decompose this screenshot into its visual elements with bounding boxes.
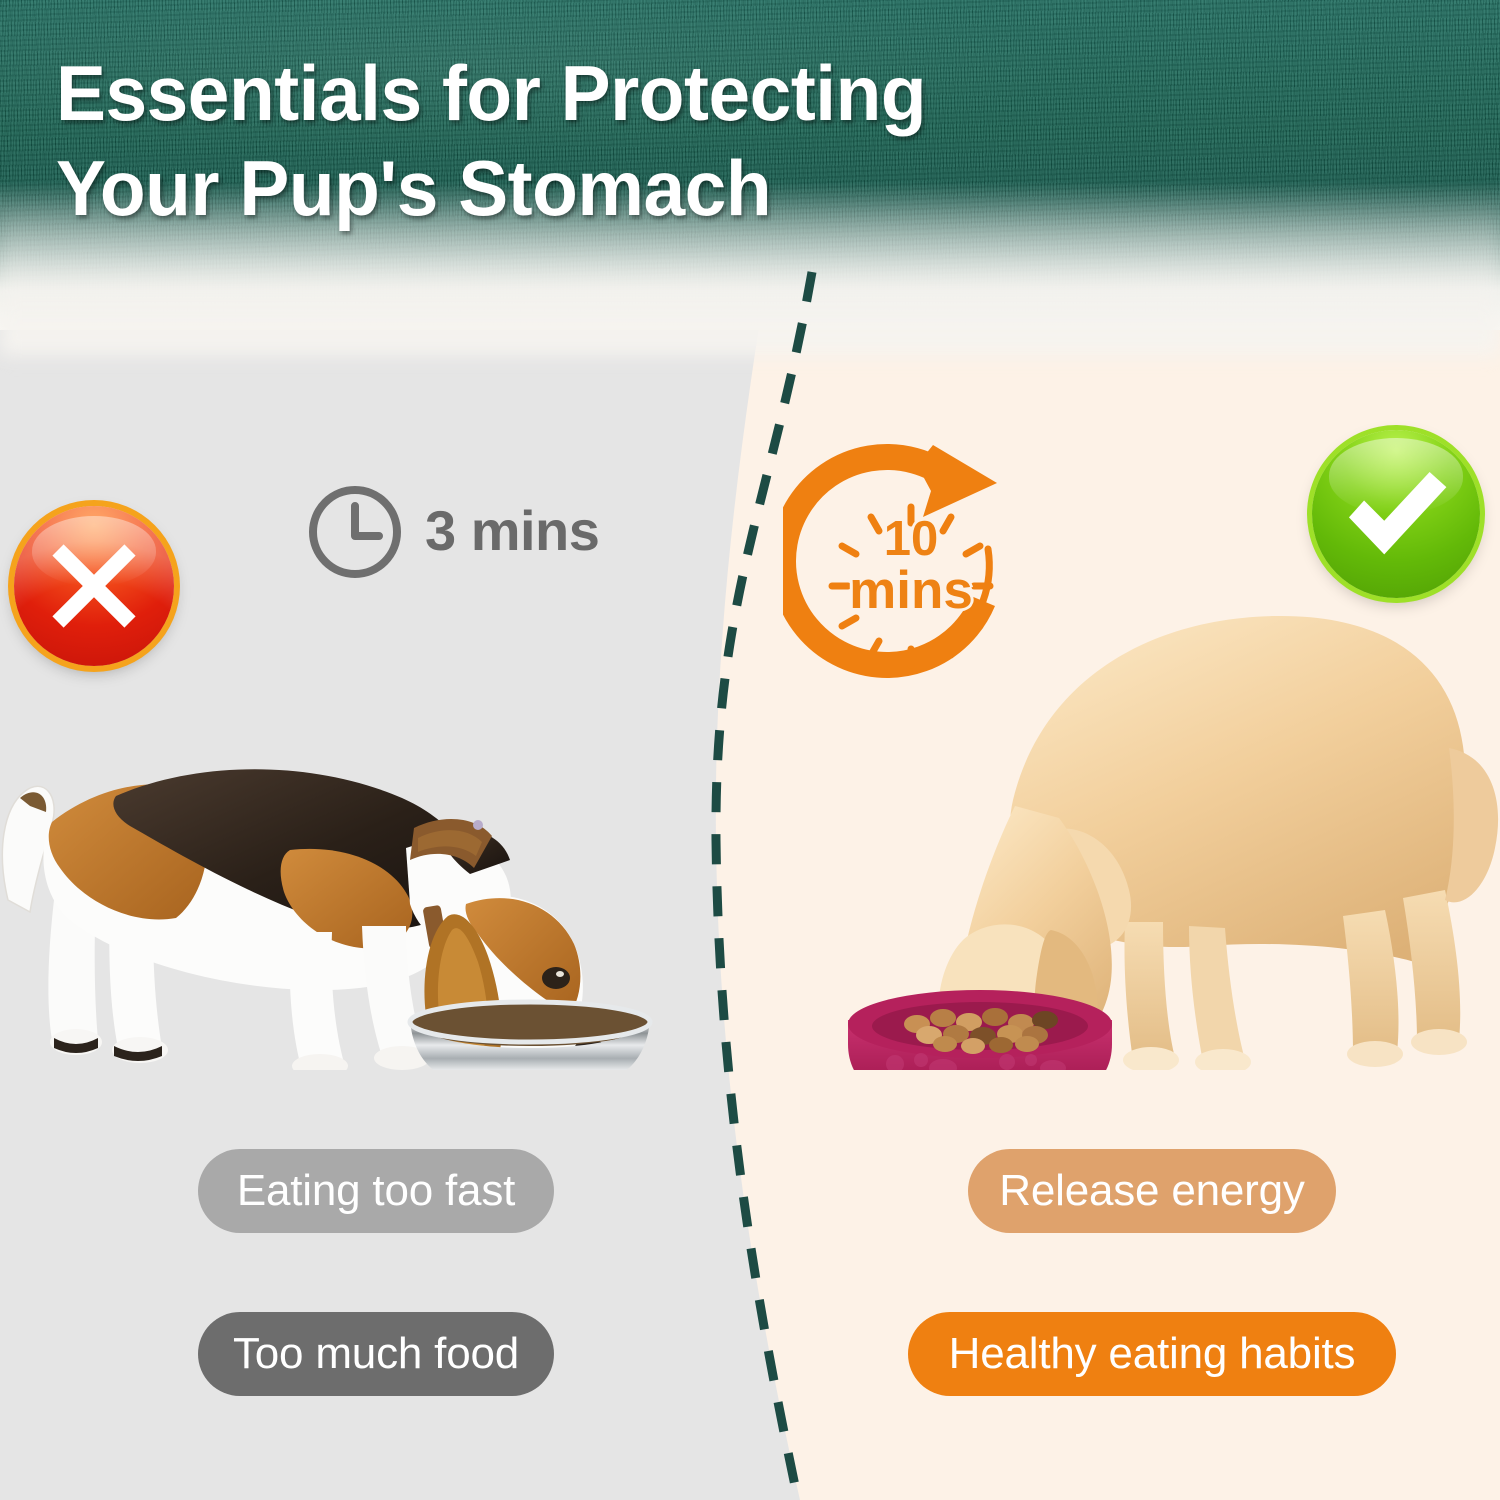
circular-arrow-timer-icon: 10 mins: [783, 441, 1039, 699]
right-timer-value-number: 10: [884, 512, 939, 566]
check-badge-icon: [1312, 430, 1480, 598]
pill-healthy-eating-habits[interactable]: Healthy eating habits: [908, 1312, 1396, 1396]
page-title: Essentials for Protecting Your Pup's Sto…: [56, 46, 1170, 236]
pill-release-energy[interactable]: Release energy: [968, 1149, 1336, 1233]
clock-icon: [305, 482, 405, 582]
left-timer-value: 3 mins: [425, 498, 599, 563]
pill-eating-too-fast[interactable]: Eating too fast: [198, 1149, 554, 1233]
pill-label: Eating too fast: [237, 1166, 515, 1216]
pill-label: Release energy: [999, 1166, 1304, 1216]
title-line-2: Your Pup's Stomach: [56, 141, 1170, 236]
pill-label: Healthy eating habits: [949, 1329, 1356, 1379]
beagle-photo: [0, 600, 670, 1070]
cross-badge-icon: [14, 506, 174, 666]
title-line-1: Essentials for Protecting: [56, 46, 1170, 141]
right-timer-value: 10 mins: [783, 515, 1039, 617]
right-timer-value-unit: mins: [783, 565, 1039, 617]
pill-label: Too much food: [233, 1329, 519, 1379]
infographic-poster: Essentials for Protecting Your Pup's Sto…: [0, 0, 1500, 1500]
pill-too-much-food[interactable]: Too much food: [198, 1312, 554, 1396]
